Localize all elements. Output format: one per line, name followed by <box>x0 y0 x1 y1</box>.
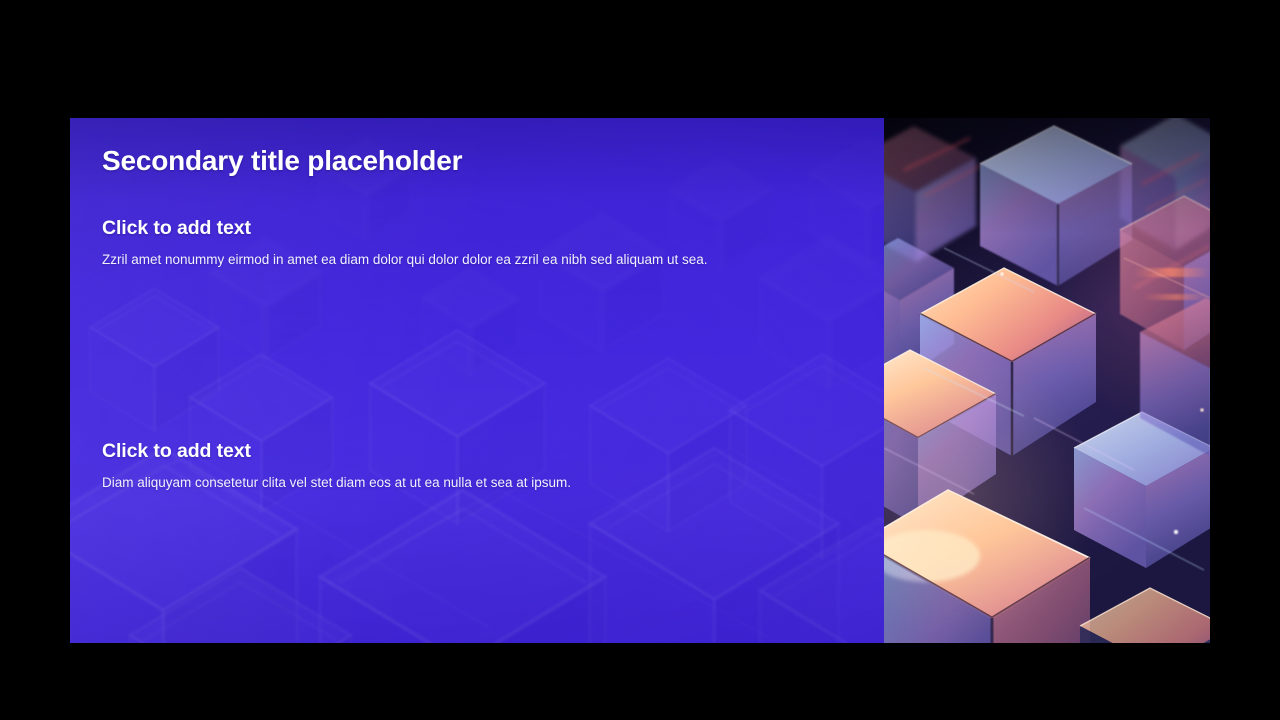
screen-canvas: Secondary title placeholder Click to add… <box>0 0 1280 720</box>
slide-title[interactable]: Secondary title placeholder <box>102 145 822 177</box>
text-block-1-heading[interactable]: Click to add text <box>102 217 842 240</box>
text-block-1[interactable]: Click to add text Zzril amet nonummy eir… <box>102 217 842 270</box>
slide-content-panel: Secondary title placeholder Click to add… <box>70 118 884 643</box>
presentation-slide[interactable]: Secondary title placeholder Click to add… <box>70 118 1210 643</box>
text-block-2[interactable]: Click to add text Diam aliquyam consetet… <box>102 440 842 493</box>
slide-image-glass-cubes[interactable] <box>884 118 1210 643</box>
text-block-2-body[interactable]: Diam aliquyam consetetur clita vel stet … <box>102 473 842 493</box>
glass-cubes-illustration <box>884 118 1210 643</box>
text-block-1-body[interactable]: Zzril amet nonummy eirmod in amet ea dia… <box>102 250 842 270</box>
text-block-2-heading[interactable]: Click to add text <box>102 440 842 463</box>
slide-text-layer: Secondary title placeholder Click to add… <box>70 118 884 643</box>
